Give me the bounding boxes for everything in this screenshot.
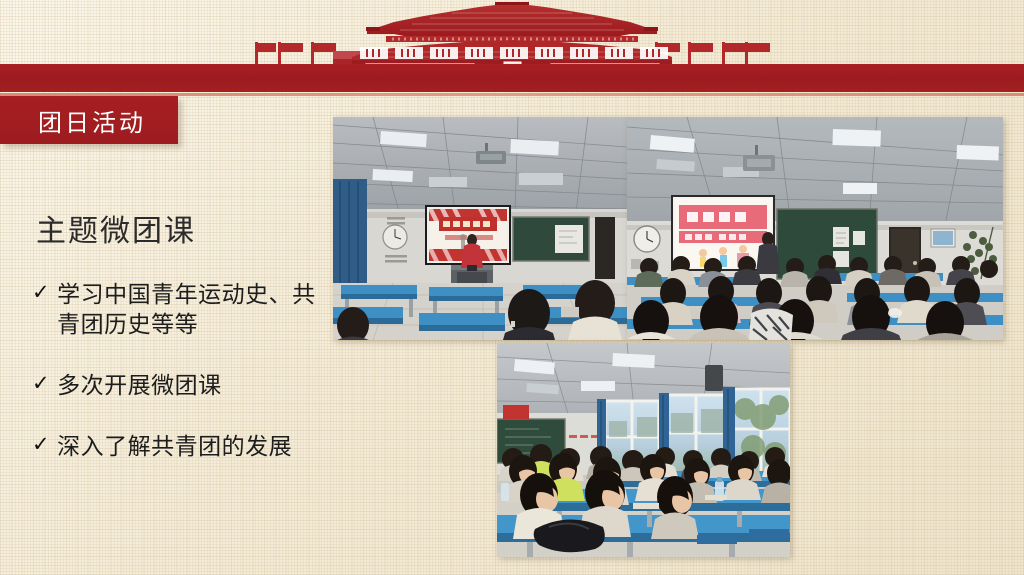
checkmark-icon: ✓ xyxy=(32,279,50,307)
list-item-label: 多次开展微团课 xyxy=(57,370,222,400)
page-title: 团日活动 xyxy=(32,103,146,138)
header-red-band xyxy=(0,64,1024,92)
content-heading: 主题微团课 xyxy=(36,206,196,250)
presentation-slide: 团日活动 主题微团课 ✓ 学习中国青年运动史、共青团历史等等 ✓ 多次开展微团课… xyxy=(0,0,1024,575)
list-item-label: 深入了解共青团的发展 xyxy=(57,431,292,461)
list-item: ✓ 学习中国青年运动史、共青团历史等等 xyxy=(32,279,332,340)
slide-title-banner: 团日活动 xyxy=(0,96,178,144)
photo-students-seated xyxy=(497,343,790,557)
list-item: ✓ 深入了解共青团的发展 xyxy=(32,431,292,461)
checkmark-icon: ✓ xyxy=(32,370,50,398)
list-item: ✓ 多次开展微团课 xyxy=(32,370,222,400)
checkmark-icon: ✓ xyxy=(32,431,50,459)
photo-lecture-hall xyxy=(333,117,627,340)
photo-classroom-full xyxy=(627,117,1003,340)
list-item-label: 学习中国青年运动史、共青团历史等等 xyxy=(57,279,332,340)
